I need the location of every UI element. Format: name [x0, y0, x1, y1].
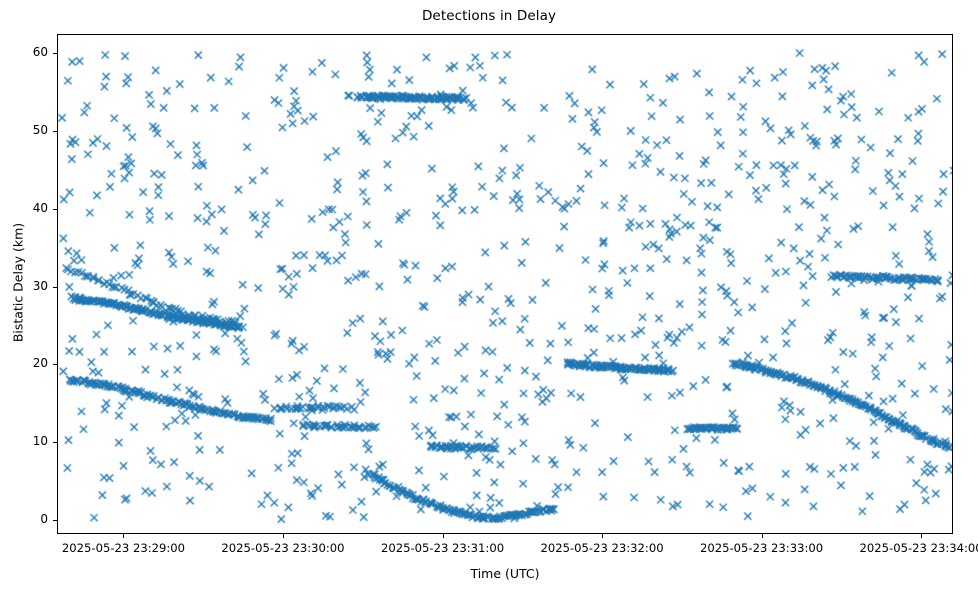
x-tick-mark [762, 534, 763, 538]
x-tick-mark [602, 534, 603, 538]
x-tick-label: 2025-05-23 23:29:00 [62, 541, 185, 555]
x-tick-label: 2025-05-23 23:31:00 [381, 541, 504, 555]
matplotlib-figure: Detections in Delay Bistatic Delay (km) … [0, 0, 978, 590]
x-tick-label: 2025-05-23 23:34:00 [860, 541, 978, 555]
x-tick-mark [123, 534, 124, 538]
x-tick-label: 2025-05-23 23:32:00 [540, 541, 663, 555]
x-tick-mark [443, 534, 444, 538]
x-tick-label: 2025-05-23 23:33:00 [700, 541, 823, 555]
y-axis-label: Bistatic Delay (km) [0, 0, 20, 590]
plot-area [57, 34, 953, 534]
x-tick-label: 2025-05-23 23:30:00 [221, 541, 344, 555]
y-axis-label-text: Bistatic Delay (km) [11, 173, 26, 393]
chart-title: Detections in Delay [0, 8, 978, 24]
x-tick-mark [921, 534, 922, 538]
x-tick-mark [283, 534, 284, 538]
x-axis-label: Time (UTC) [57, 566, 953, 581]
scatter-plot-canvas [58, 35, 952, 533]
